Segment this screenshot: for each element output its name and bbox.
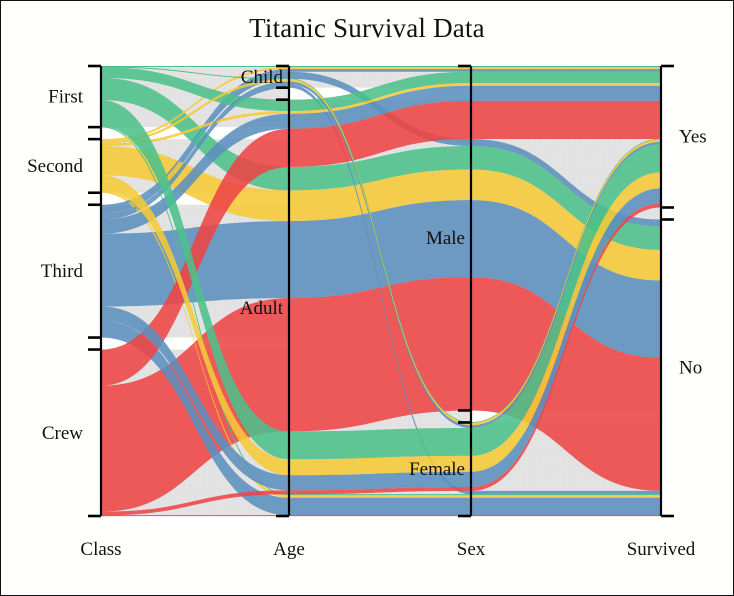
category-label-female: Female	[409, 459, 465, 480]
flow-ribbon	[289, 69, 471, 72]
dimension-label-sex: Sex	[457, 539, 486, 560]
flow-ribbon	[289, 277, 471, 431]
flow-ribbon	[471, 83, 661, 86]
flow-ribbon	[471, 491, 661, 494]
dimension-label-age: Age	[273, 539, 305, 560]
flow-ribbon	[471, 86, 661, 101]
flow-ribbon	[289, 428, 471, 459]
flow-ribbon	[471, 69, 661, 72]
category-label-male: Male	[426, 228, 465, 249]
flow-ribbon	[289, 67, 471, 69]
category-label-no: No	[679, 358, 702, 379]
category-label-child: Child	[241, 67, 284, 88]
dimension-label-class: Class	[80, 539, 121, 560]
parallel-sets-figure: FirstSecondThirdCrewClassChildAdultAgeMa…	[1, 1, 733, 595]
category-label-first: First	[48, 87, 84, 108]
flow-ribbon	[471, 495, 661, 498]
category-label-second: Second	[27, 156, 83, 177]
flow-ribbon	[289, 498, 471, 516]
chart-canvas: Titanic Survival Data FirstSecondThirdCr…	[1, 1, 733, 595]
category-label-third: Third	[41, 261, 84, 282]
category-label-yes: Yes	[679, 127, 707, 148]
flow-ribbon	[471, 498, 661, 516]
flow-ribbon	[471, 101, 661, 139]
category-label-crew: Crew	[42, 423, 83, 444]
flow-ribbon	[289, 495, 471, 498]
flow-ribbon	[471, 67, 661, 69]
category-label-adult: Adult	[240, 298, 284, 319]
flow-ribbon	[471, 72, 661, 83]
ribbon-layer	[101, 66, 661, 516]
dimension-label-survived: Survived	[627, 539, 696, 560]
